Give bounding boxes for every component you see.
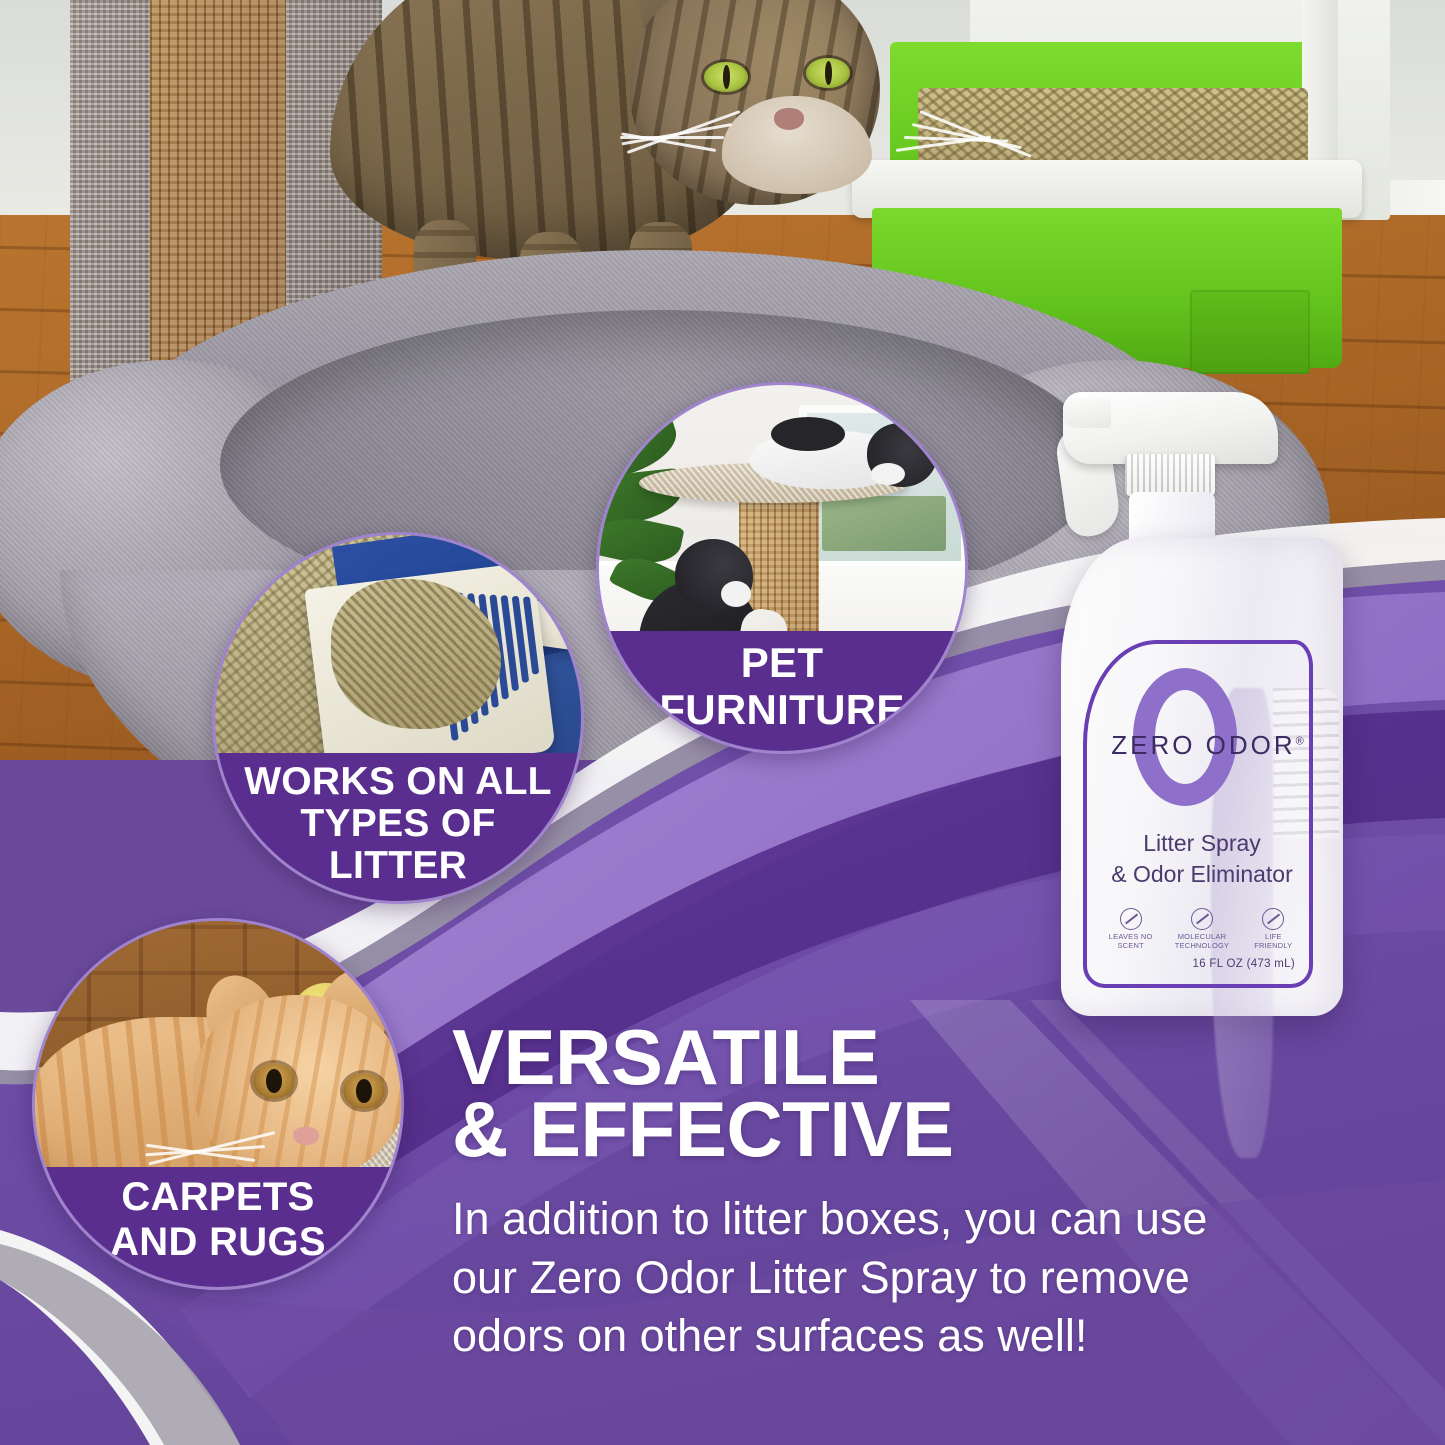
molecule-icon: [1191, 908, 1213, 930]
headline-line-1: VERSATILE: [452, 1022, 1092, 1094]
bottle-nozzle-tip: [1063, 398, 1111, 428]
caption-line-1: CARPETS: [35, 1175, 401, 1220]
callout-caption: WORKS ON ALL TYPES OF LITTER: [215, 753, 581, 901]
headline-line-2: & EFFECTIVE: [452, 1094, 1092, 1166]
bottle-label: ZERO ODOR® Litter Spray & Odor Eliminato…: [1083, 640, 1313, 988]
subtitle-line-1: Litter Spray: [1087, 828, 1317, 859]
life-friendly-icon: [1262, 908, 1284, 930]
body-line-3: odors on other surfaces as well!: [452, 1307, 1387, 1366]
brand-text: ZERO ODOR: [1111, 730, 1295, 760]
bottle-volume: 16 FL OZ (473 mL): [1193, 958, 1295, 970]
bottle-collar: [1125, 454, 1215, 496]
registered-mark: ®: [1296, 735, 1307, 747]
product-marketing-image: WORKS ON ALL TYPES OF LITTER PET FURNITU…: [0, 0, 1445, 1445]
subtitle-line-2: & Odor Eliminator: [1087, 859, 1317, 890]
badge-molecular-technology: MOLECULAR TECHNOLOGY: [1172, 908, 1232, 951]
caption-line-2: TYPES OF: [215, 803, 581, 845]
zero-odor-spray-bottle[interactable]: ZERO ODOR® Litter Spray & Odor Eliminato…: [1055, 392, 1355, 1017]
body-line-1: In addition to litter boxes, you can use: [452, 1190, 1387, 1249]
callout-caption: PET FURNITURE: [599, 631, 965, 751]
caption-line-1: WORKS ON ALL: [215, 761, 581, 803]
body-copy: In addition to litter boxes, you can use…: [452, 1190, 1387, 1366]
bottle-subtitle: Litter Spray & Odor Eliminator: [1087, 828, 1317, 890]
caption-line-3: LITTER: [215, 845, 581, 887]
body-line-2: our Zero Odor Litter Spray to remove: [452, 1249, 1387, 1308]
caption-line-1: PET: [599, 639, 965, 686]
callout-works-on-all-types-of-litter[interactable]: WORKS ON ALL TYPES OF LITTER: [212, 532, 584, 904]
bottle-feature-badges: LEAVES NO SCENT MOLECULAR TECHNOLOGY LIF…: [1095, 908, 1309, 951]
caption-line-2: AND RUGS: [35, 1220, 401, 1265]
bottle-brand-name: ZERO ODOR®: [1109, 730, 1309, 761]
headline: VERSATILE & EFFECTIVE: [452, 1022, 1092, 1166]
callout-carpets-and-rugs[interactable]: CARPETS AND RUGS: [32, 918, 404, 1290]
caption-line-2: FURNITURE: [599, 686, 965, 733]
callout-pet-furniture[interactable]: PET FURNITURE: [596, 382, 968, 754]
no-scent-icon: [1120, 908, 1142, 930]
badge-leaves-no-scent: LEAVES NO SCENT: [1101, 908, 1161, 951]
badge-life-friendly: LIFE FRIENDLY: [1243, 908, 1303, 951]
callout-caption: CARPETS AND RUGS: [35, 1167, 401, 1287]
